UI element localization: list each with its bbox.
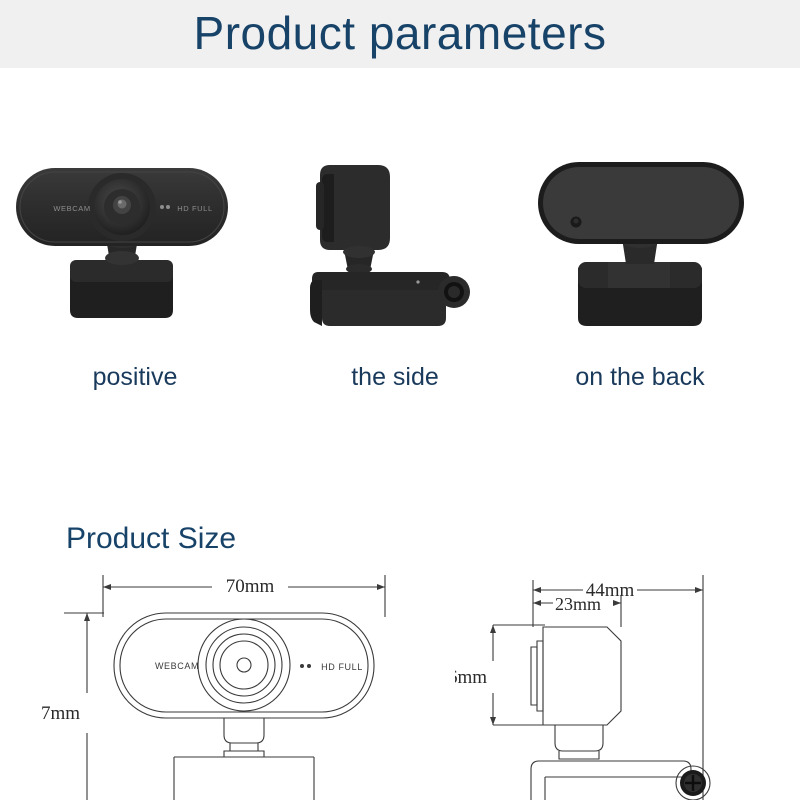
page-title: Product parameters (0, 6, 800, 60)
front-width-label: 70mm (226, 576, 275, 597)
indicator-dot-icon (160, 205, 164, 209)
product-view-side (300, 150, 500, 360)
product-views-row: WEBCAM HD FULL (0, 150, 800, 360)
indicator-dot-icon (166, 205, 170, 209)
tripod-screw-icon (676, 766, 710, 800)
side-height-label: 26mm (455, 667, 487, 688)
webcam-front-technical-drawing: 70mm 50.7mm WEBCAM HD FULL (40, 565, 440, 800)
view-label-side: the side (300, 363, 490, 392)
view-labels-row: positive the side on the back (0, 363, 800, 399)
product-size-heading: Product Size (66, 522, 236, 556)
front-drawing-hdfull-text: HD FULL (321, 662, 363, 672)
view-label-front: positive (20, 363, 250, 392)
webcam-side-technical-drawing: 44mm 23mm 26mm (455, 565, 800, 800)
front-photo-hdfull-text: HD FULL (177, 204, 212, 213)
webcam-back-photo (530, 150, 770, 360)
webcam-front-photo: WEBCAM HD FULL (10, 150, 260, 360)
front-drawing-webcam-text: WEBCAM (155, 661, 199, 671)
side-dimension-drawing: 44mm 23mm 26mm (455, 565, 800, 800)
product-view-front: WEBCAM HD FULL (10, 150, 260, 360)
front-photo-webcam-text: WEBCAM (53, 204, 90, 213)
view-label-back: on the back (530, 363, 750, 392)
side-body-width-label: 23mm (555, 594, 601, 614)
front-drawing-indicator-icon (300, 664, 311, 668)
webcam-side-photo (300, 150, 500, 360)
product-view-back (530, 150, 770, 360)
front-dimension-drawing: 70mm 50.7mm WEBCAM HD FULL (40, 565, 440, 800)
dimension-drawings-row: 70mm 50.7mm WEBCAM HD FULL (0, 565, 800, 800)
front-height-label: 50.7mm (40, 703, 80, 724)
